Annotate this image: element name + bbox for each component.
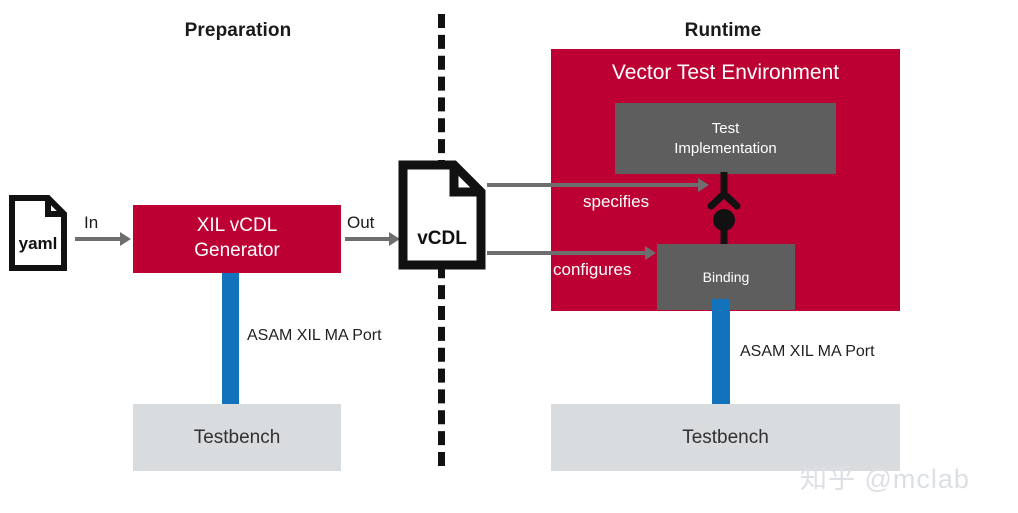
in-arrow-label: In bbox=[84, 213, 98, 233]
asam-port-bar-runtime bbox=[712, 299, 730, 405]
generator-label-line2: Generator bbox=[194, 239, 280, 264]
diagram-canvas: Preparation Runtime yaml In XIL vCDL Gen… bbox=[0, 0, 1018, 513]
watermark: 知乎 @mclab bbox=[800, 457, 970, 496]
specifies-arrow-label: specifies bbox=[583, 192, 649, 212]
test-implementation-box[interactable]: Test Implementation bbox=[615, 103, 836, 174]
asam-port-label-runtime: ASAM XIL MA Port bbox=[740, 343, 875, 361]
section-title-runtime: Runtime bbox=[635, 20, 811, 42]
test-implementation-label-line1: Test bbox=[674, 119, 777, 138]
in-arrow-head bbox=[120, 232, 131, 246]
yaml-file-icon: yaml bbox=[8, 194, 68, 272]
testbench-label-preparation: Testbench bbox=[194, 427, 281, 449]
asam-port-label-preparation: ASAM XIL MA Port bbox=[247, 327, 382, 345]
test-implementation-label-line2: Implementation bbox=[674, 139, 777, 158]
out-arrow-label: Out bbox=[347, 213, 374, 233]
generator-label-line1: XIL vCDL bbox=[194, 214, 280, 239]
yaml-file-label: yaml bbox=[8, 234, 68, 254]
out-arrow-line bbox=[345, 237, 390, 241]
xil-vcdl-generator-box[interactable]: XIL vCDL Generator bbox=[133, 205, 341, 273]
testbench-box-preparation[interactable]: Testbench bbox=[133, 404, 341, 471]
configures-arrow-label: configures bbox=[553, 260, 631, 280]
section-title-preparation: Preparation bbox=[150, 20, 326, 42]
specifies-arrow-line bbox=[487, 183, 702, 187]
specifies-arrow-head bbox=[698, 178, 709, 192]
vcdl-file-label: vCDL bbox=[398, 228, 486, 250]
configures-arrow-line bbox=[487, 251, 648, 255]
configures-arrow-head bbox=[645, 246, 656, 260]
in-arrow-line bbox=[75, 237, 121, 241]
vector-test-environment-title: Vector Test Environment bbox=[551, 61, 900, 85]
binding-label: Binding bbox=[703, 269, 750, 285]
vcdl-file-icon: vCDL bbox=[398, 160, 486, 270]
asam-port-bar-preparation bbox=[222, 273, 239, 405]
testbench-label-runtime: Testbench bbox=[682, 427, 769, 449]
